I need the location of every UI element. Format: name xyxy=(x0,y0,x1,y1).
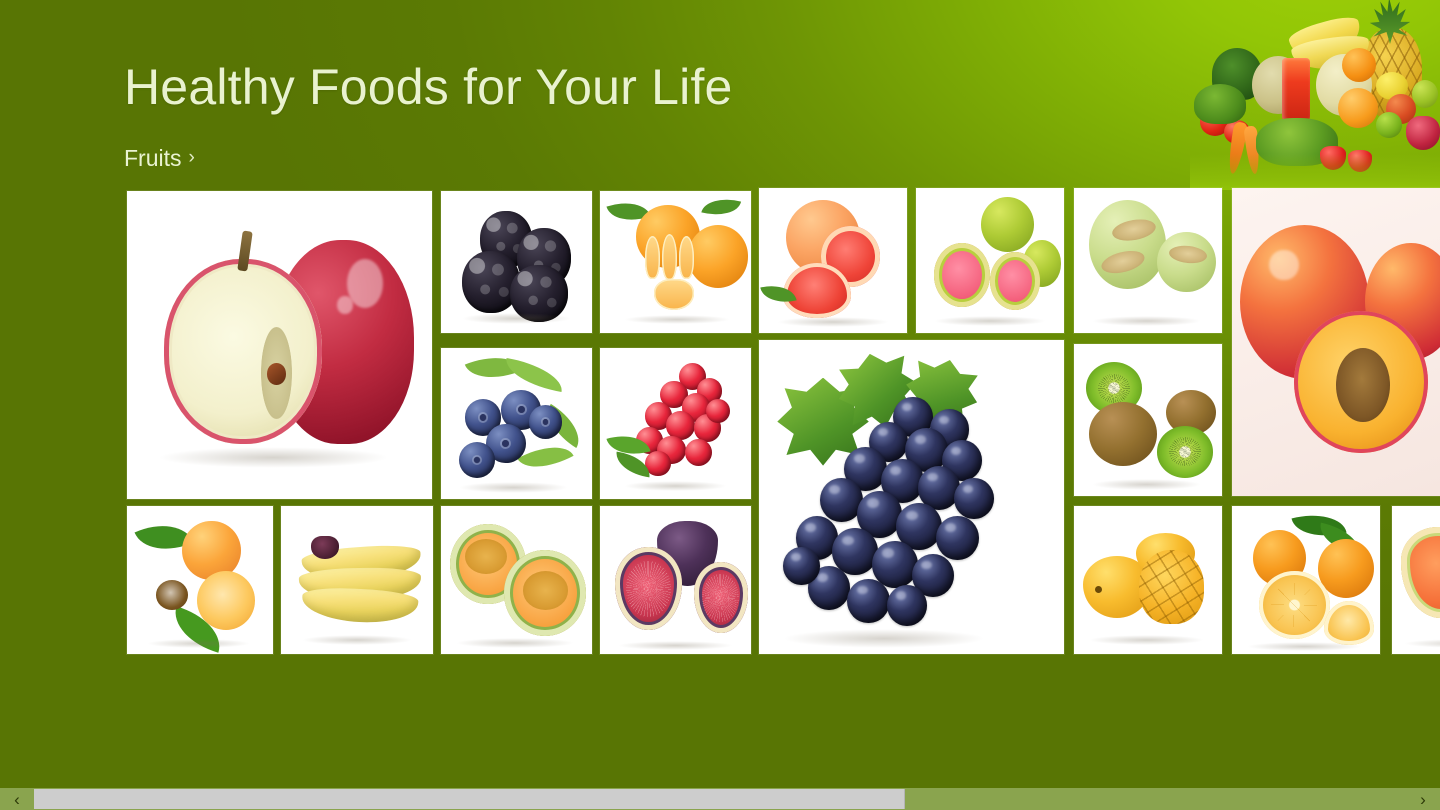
tile-grid xyxy=(0,0,1440,700)
banana-crown-icon xyxy=(311,536,338,560)
tangerine-image xyxy=(600,191,751,333)
blueberry-image xyxy=(441,348,592,499)
scroll-left-button[interactable]: ‹ xyxy=(0,788,34,810)
cantaloupe-image xyxy=(441,506,592,654)
tile-papaya[interactable] xyxy=(1392,506,1440,654)
mango-image xyxy=(1074,506,1222,654)
banana-image xyxy=(281,506,433,654)
tile-apricot[interactable] xyxy=(127,506,273,654)
scrollbar-thumb[interactable] xyxy=(34,789,905,809)
orange-half-icon xyxy=(1259,571,1330,639)
tile-blueberry[interactable] xyxy=(441,348,592,499)
tile-grapefruit[interactable] xyxy=(759,188,907,333)
tile-tangerine[interactable] xyxy=(600,191,751,333)
tile-grapes[interactable] xyxy=(759,340,1064,654)
tile-honeydew[interactable] xyxy=(1074,188,1222,333)
grapes-image xyxy=(759,340,1064,654)
tile-mango[interactable] xyxy=(1074,506,1222,654)
apple-image xyxy=(127,191,432,499)
tile-redcurrant[interactable] xyxy=(600,348,751,499)
tile-cantaloupe[interactable] xyxy=(441,506,592,654)
orange-image xyxy=(1232,506,1380,654)
tile-apple[interactable] xyxy=(127,191,432,499)
tile-peach[interactable] xyxy=(1232,188,1440,496)
scrollbar-track[interactable] xyxy=(34,788,1406,810)
apricot-image xyxy=(127,506,273,654)
orange-wedge-icon xyxy=(1324,601,1374,645)
guava-image xyxy=(916,188,1064,333)
grapefruit-image xyxy=(759,188,907,333)
tile-kiwi[interactable] xyxy=(1074,344,1222,496)
fig-image xyxy=(600,506,751,654)
app-root: Healthy Foods for Your Life Fruits › xyxy=(0,0,1440,810)
kiwi-image xyxy=(1074,344,1222,496)
peach-image xyxy=(1232,188,1440,496)
tile-guava[interactable] xyxy=(916,188,1064,333)
tile-blackberry[interactable] xyxy=(441,191,592,333)
tile-banana[interactable] xyxy=(281,506,433,654)
tile-orange[interactable] xyxy=(1232,506,1380,654)
papaya-image xyxy=(1392,506,1440,654)
redcurrant-image xyxy=(600,348,751,499)
blackberry-image xyxy=(441,191,592,333)
honeydew-image xyxy=(1074,188,1222,333)
tile-fig[interactable] xyxy=(600,506,751,654)
scroll-right-button[interactable]: › xyxy=(1406,788,1440,810)
horizontal-scrollbar[interactable]: ‹ › xyxy=(0,788,1440,810)
